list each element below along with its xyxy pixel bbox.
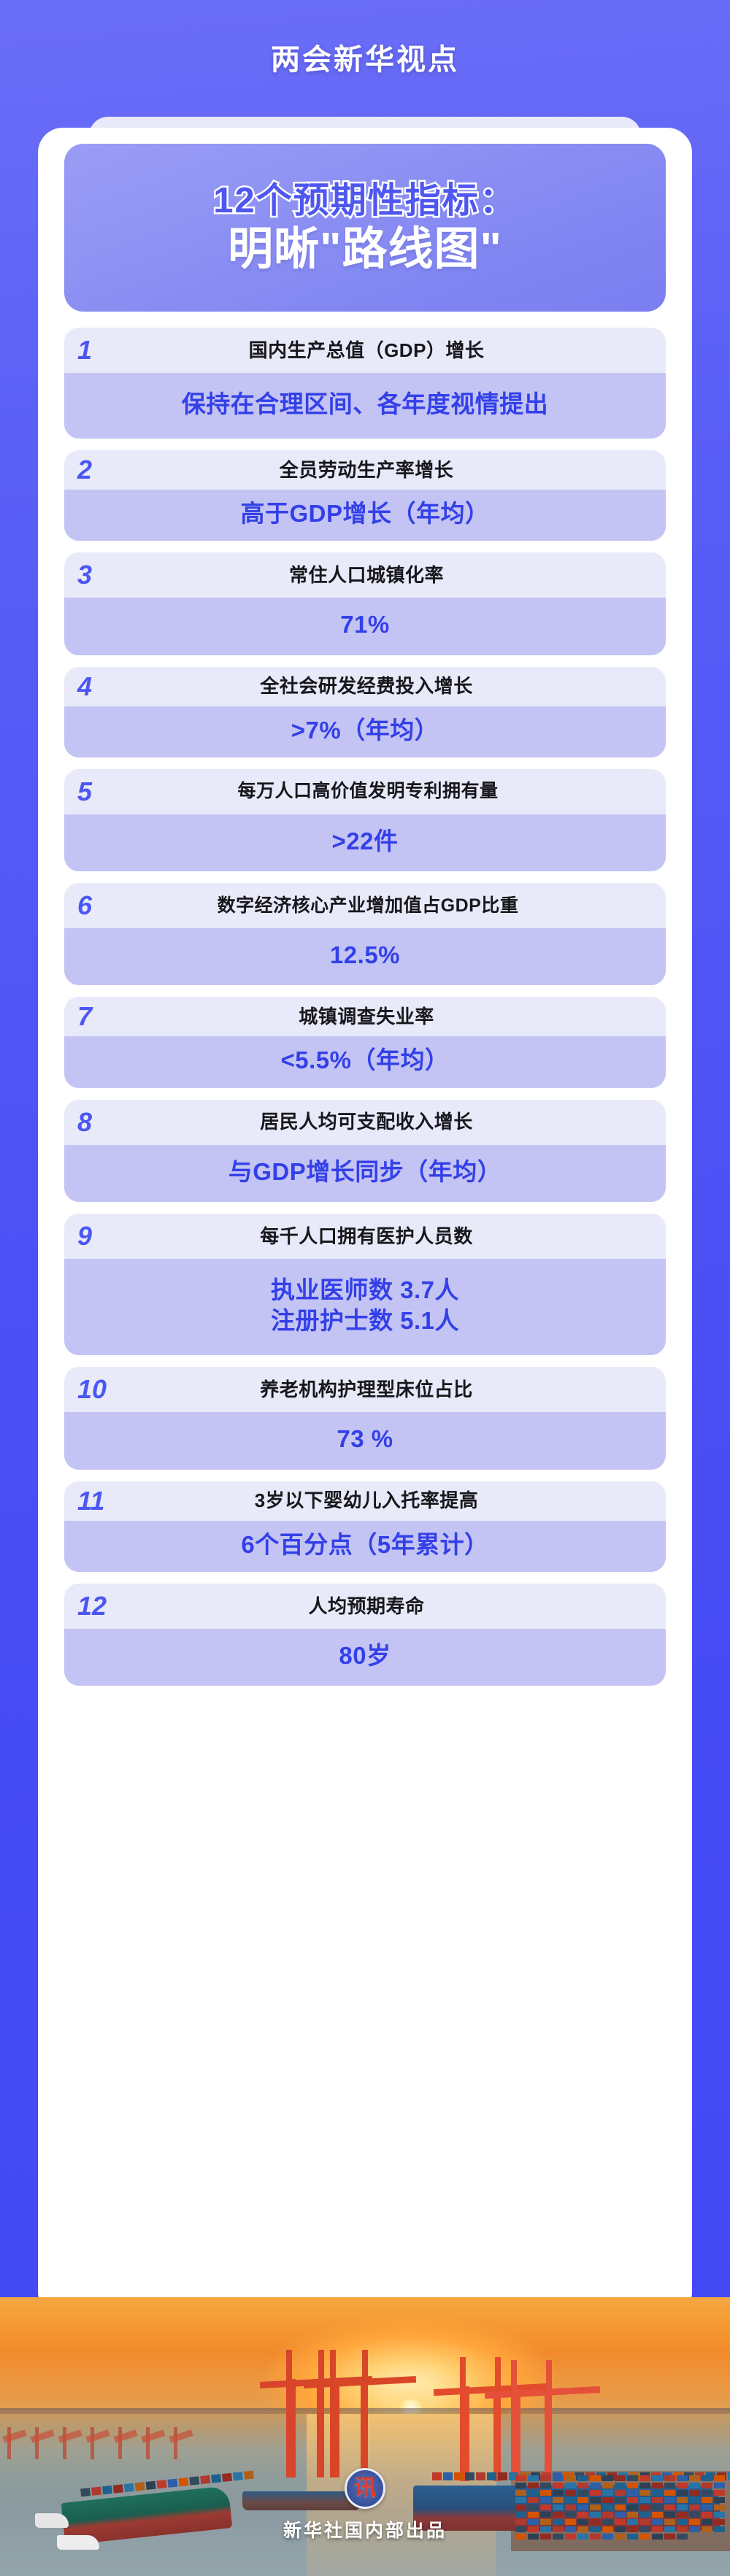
- indicator-value: 6个百分点（5年累计）: [64, 1521, 666, 1572]
- indicator-value-line: <5.5%（年均）: [73, 1045, 657, 1076]
- indicator-number: 11: [74, 1488, 126, 1514]
- indicator-label: 养老机构护理型床位占比: [126, 1378, 661, 1402]
- indicator-card[interactable]: 3常住人口城镇化率71%: [64, 552, 666, 655]
- indicator-card-list: 1国内生产总值（GDP）增长保持在合理区间、各年度视情提出2全员劳动生产率增长高…: [64, 328, 666, 1686]
- indicator-card-head: 12人均预期寿命: [64, 1584, 666, 1629]
- dock-crane-icon: [7, 2427, 11, 2459]
- indicator-card[interactable]: 9每千人口拥有医护人员数执业医师数 3.7人注册护士数 5.1人: [64, 1214, 666, 1355]
- indicator-value-line: >22件: [73, 826, 657, 857]
- indicator-label: 城镇调查失业率: [126, 1005, 661, 1029]
- indicator-number: 7: [74, 1003, 126, 1030]
- indicator-card[interactable]: 1国内生产总值（GDP）增长保持在合理区间、各年度视情提出: [64, 328, 666, 439]
- indicator-value-line: 与GDP增长同步（年均）: [73, 1157, 657, 1187]
- crane-leg-icon: [464, 2386, 469, 2481]
- indicator-value: 保持在合理区间、各年度视情提出: [64, 373, 666, 439]
- content-sheet: 12个预期性指标： 明晰"路线图" 1国内生产总值（GDP）增长保持在合理区间、…: [38, 128, 692, 2317]
- indicator-value-line: 71%: [73, 609, 657, 640]
- title-card: 12个预期性指标： 明晰"路线图": [64, 144, 666, 312]
- brand-title: 两会新华视点: [271, 36, 459, 78]
- indicator-value-line: 保持在合理区间、各年度视情提出: [73, 389, 657, 420]
- title-line-1: 12个预期性指标：: [213, 180, 517, 221]
- indicator-card[interactable]: 8居民人均可支配收入增长与GDP增长同步（年均）: [64, 1100, 666, 1202]
- indicator-card[interactable]: 12人均预期寿命80岁: [64, 1584, 666, 1686]
- dock-crane-icon: [174, 2427, 177, 2459]
- indicator-number: 12: [74, 1593, 126, 1619]
- indicator-value: 高于GDP增长（年均）: [64, 490, 666, 541]
- indicator-number: 8: [74, 1109, 126, 1135]
- indicator-card-head: 5每万人口高价值发明专利拥有量: [64, 769, 666, 814]
- dock-crane-icon: [91, 2427, 94, 2459]
- indicator-card-head: 3常住人口城镇化率: [64, 552, 666, 598]
- indicator-value: 执业医师数 3.7人注册护士数 5.1人: [64, 1259, 666, 1355]
- indicator-label: 每万人口高价值发明专利拥有量: [108, 780, 661, 803]
- indicator-card-head: 6数字经济核心产业增加值占GDP比重: [64, 883, 666, 928]
- indicator-label: 全社会研发经费投入增长: [126, 674, 661, 698]
- indicator-value: 12.5%: [64, 928, 666, 985]
- crane-leg-icon: [361, 2379, 366, 2477]
- indicator-value-line: >7%（年均）: [73, 715, 657, 746]
- indicator-value: 与GDP增长同步（年均）: [64, 1145, 666, 1202]
- indicator-number: 6: [74, 892, 108, 919]
- indicator-value: 80岁: [64, 1629, 666, 1686]
- indicator-label: 每千人口拥有医护人员数: [126, 1225, 661, 1249]
- crane-leg-icon: [317, 2379, 322, 2477]
- footer-credit: 讯 新华社国内部出品: [0, 2468, 730, 2542]
- indicator-label: 国内生产总值（GDP）增长: [126, 339, 661, 363]
- indicator-value-line: 注册护士数 5.1人: [73, 1306, 657, 1336]
- indicator-label: 人均预期寿命: [126, 1594, 661, 1619]
- indicator-number: 5: [74, 779, 108, 805]
- dock-crane-icon: [35, 2427, 39, 2459]
- indicator-value-line: 6个百分点（5年累计）: [73, 1530, 657, 1560]
- indicator-value-line: 执业医师数 3.7人: [73, 1275, 657, 1306]
- indicator-number: 4: [74, 674, 126, 700]
- indicator-value-line: 80岁: [73, 1640, 657, 1671]
- indicator-value: >22件: [64, 814, 666, 871]
- indicator-card[interactable]: 113岁以下婴幼儿入托率提高6个百分点（5年累计）: [64, 1481, 666, 1572]
- indicator-card[interactable]: 6数字经济核心产业增加值占GDP比重12.5%: [64, 883, 666, 985]
- title-line-2: 明晰"路线图": [228, 223, 502, 275]
- indicator-value: 73 %: [64, 1412, 666, 1469]
- credit-text: 新华社国内部出品: [283, 2516, 447, 2542]
- indicator-card-head: 1国内生产总值（GDP）增长: [64, 328, 666, 373]
- indicator-card[interactable]: 4全社会研发经费投入增长>7%（年均）: [64, 667, 666, 757]
- indicator-card-head: 113岁以下婴幼儿入托率提高: [64, 1481, 666, 1521]
- indicator-card[interactable]: 7城镇调查失业率<5.5%（年均）: [64, 997, 666, 1087]
- dock-crane-icon: [118, 2427, 122, 2459]
- crane-leg-icon: [334, 2379, 339, 2477]
- indicator-label: 全员劳动生产率增长: [126, 458, 661, 482]
- indicator-label: 常住人口城镇化率: [126, 563, 661, 587]
- indicator-card[interactable]: 2全员劳动生产率增长高于GDP增长（年均）: [64, 450, 666, 541]
- indicator-card[interactable]: 10养老机构护理型床位占比73 %: [64, 1367, 666, 1469]
- indicator-value-line: 73 %: [73, 1424, 657, 1454]
- indicator-card-head: 10养老机构护理型床位占比: [64, 1367, 666, 1412]
- indicator-card-head: 2全员劳动生产率增长: [64, 450, 666, 490]
- dock-crane-icon: [146, 2427, 150, 2459]
- indicator-value: <5.5%（年均）: [64, 1036, 666, 1087]
- indicator-card-head: 9每千人口拥有医护人员数: [64, 1214, 666, 1259]
- indicator-label: 数字经济核心产业增加值占GDP比重: [108, 895, 661, 917]
- crane-leg-icon: [493, 2386, 499, 2481]
- indicator-number: 9: [74, 1223, 126, 1249]
- xinhua-logo-glyph: 讯: [354, 2477, 376, 2499]
- indicator-value-line: 高于GDP增长（年均）: [73, 498, 657, 529]
- indicator-card-head: 8居民人均可支配收入增长: [64, 1100, 666, 1145]
- indicator-number: 1: [74, 337, 126, 363]
- indicator-value: >7%（年均）: [64, 706, 666, 757]
- indicator-card-head: 7城镇调查失业率: [64, 997, 666, 1036]
- indicator-number: 10: [74, 1376, 126, 1403]
- crane-leg-icon: [291, 2379, 296, 2477]
- indicator-value-line: 12.5%: [73, 940, 657, 971]
- indicator-number: 3: [74, 562, 126, 588]
- indicator-label: 居民人均可支配收入增长: [126, 1110, 661, 1134]
- indicator-number: 2: [74, 457, 126, 483]
- brand-header: 两会新华视点: [0, 0, 730, 113]
- indicator-value: 71%: [64, 598, 666, 655]
- dock-crane-icon: [63, 2427, 66, 2459]
- indicator-label: 3岁以下婴幼儿入托率提高: [126, 1489, 661, 1513]
- indicator-card-head: 4全社会研发经费投入增长: [64, 667, 666, 706]
- xinhua-logo-icon: 讯: [345, 2468, 385, 2509]
- indicator-card[interactable]: 5每万人口高价值发明专利拥有量>22件: [64, 769, 666, 871]
